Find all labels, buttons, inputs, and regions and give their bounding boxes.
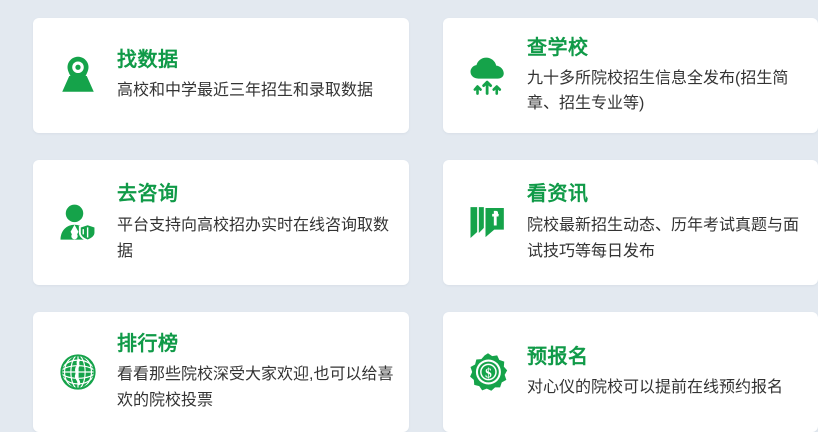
- card-text-block: 预报名 对心仪的院校可以提前在线预约报名: [527, 344, 804, 400]
- card-description: 高校和中学最近三年招生和录取数据: [117, 78, 395, 103]
- card-title: 排行榜: [117, 333, 395, 356]
- card-text-block: 看资讯 院校最新招生动态、历年考试真题与面试技巧等每日发布: [527, 181, 804, 264]
- card-description: 看看那些院校深受大家欢迎,也可以给喜欢的院校投票: [117, 362, 395, 413]
- feature-card-news[interactable]: 看资讯 院校最新招生动态、历年考试真题与面试技巧等每日发布: [443, 160, 818, 285]
- news-cards-icon: [461, 196, 515, 250]
- dollar-badge-icon: $: [461, 345, 515, 399]
- map-location-icon: [51, 49, 105, 103]
- card-description: 平台支持向高校招办实时在线咨询取数据: [117, 213, 395, 264]
- card-text-block: 排行榜 看看那些院校深受大家欢迎,也可以给喜欢的院校投票: [117, 331, 395, 413]
- card-title: 找数据: [117, 49, 395, 72]
- card-title: 看资讯: [527, 183, 804, 206]
- card-text-block: 去咨询 平台支持向高校招办实时在线咨询取数据: [117, 181, 395, 264]
- card-title: 去咨询: [117, 183, 395, 206]
- cloud-upload-icon: [461, 49, 515, 103]
- svg-text:$: $: [485, 365, 492, 380]
- globe-icon: [51, 345, 105, 399]
- card-title: 查学校: [527, 37, 804, 60]
- feature-card-ranking[interactable]: 排行榜 看看那些院校深受大家欢迎,也可以给喜欢的院校投票: [33, 312, 409, 432]
- card-description: 院校最新招生动态、历年考试真题与面试技巧等每日发布: [527, 213, 804, 264]
- card-text-block: 查学校 九十多所院校招生信息全发布(招生简章、招生专业等): [527, 35, 804, 117]
- card-description: 九十多所院校招生信息全发布(招生简章、招生专业等): [527, 66, 804, 117]
- card-description: 对心仪的院校可以提前在线预约报名: [527, 375, 804, 400]
- feature-card-pre-register[interactable]: $ 预报名 对心仪的院校可以提前在线预约报名: [443, 312, 818, 432]
- feature-card-find-data[interactable]: 找数据 高校和中学最近三年招生和录取数据: [33, 18, 409, 133]
- card-title: 预报名: [527, 346, 804, 369]
- feature-card-find-school[interactable]: 查学校 九十多所院校招生信息全发布(招生简章、招生专业等): [443, 18, 818, 133]
- card-text-block: 找数据 高校和中学最近三年招生和录取数据: [117, 47, 395, 103]
- user-shield-icon: [51, 196, 105, 250]
- feature-card-consult[interactable]: 去咨询 平台支持向高校招办实时在线咨询取数据: [33, 160, 409, 285]
- feature-card-grid: 找数据 高校和中学最近三年招生和录取数据 查学校 九十多所院校招生信息全发布(招…: [0, 0, 818, 420]
